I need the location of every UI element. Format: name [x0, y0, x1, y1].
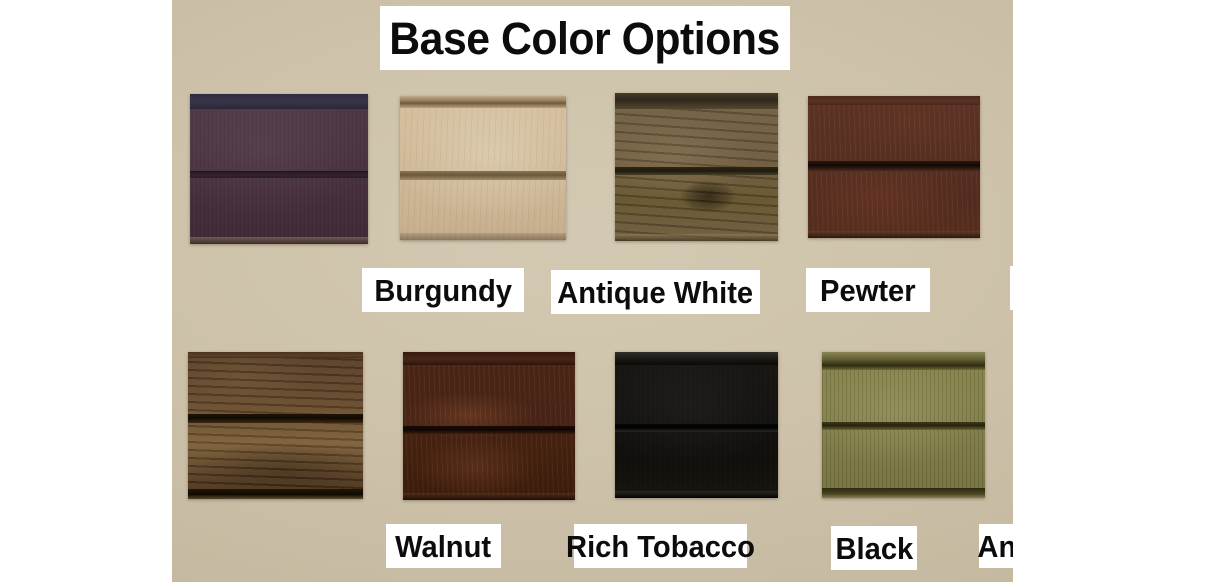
swatch-top-rail: [615, 93, 778, 109]
swatch-groove: [615, 424, 778, 432]
color-swatch-rich-tobacco[interactable]: [403, 352, 575, 500]
swatch-top-rail: [188, 352, 363, 358]
sample-board-background: Base Color Options: [172, 0, 1013, 582]
swatch-bottom-edge: [808, 231, 980, 238]
swatch-groove: [808, 161, 980, 171]
swatch-bottom-edge: [615, 234, 778, 241]
swatch-label-antique-green: Antique Green: [979, 524, 1013, 568]
swatch-label-text: Antique Green: [978, 531, 1013, 562]
swatch-bottom-edge: [188, 489, 363, 499]
swatch-label-black: Black: [831, 526, 917, 570]
swatch-field: [400, 96, 566, 240]
page-title: Base Color Options: [380, 6, 790, 70]
swatch-top-rail: [190, 94, 368, 109]
swatch-label-text: Burgundy: [374, 275, 512, 306]
swatch-groove: [615, 167, 778, 175]
swatch-bottom-edge: [822, 488, 985, 498]
page-title-text: Base Color Options: [390, 16, 781, 61]
color-swatch-cherry[interactable]: [808, 96, 980, 238]
swatch-top-rail: [822, 352, 985, 370]
swatch-label-text: Black: [835, 533, 913, 564]
color-swatch-pewter[interactable]: [615, 93, 778, 241]
swatch-label-rich-tobacco: Rich Tobacco: [574, 524, 747, 568]
swatch-label-text: Antique White: [558, 277, 754, 308]
swatch-label-pewter: Pewter: [806, 268, 930, 312]
swatch-groove: [822, 422, 985, 430]
swatch-label-text: Pewter: [820, 275, 916, 306]
swatch-bottom-edge: [400, 233, 566, 240]
swatch-groove: [188, 414, 363, 423]
color-chart-image: Base Color Options: [0, 0, 1214, 582]
color-swatch-antique-white[interactable]: [400, 96, 566, 240]
color-swatch-black[interactable]: [615, 352, 778, 498]
swatch-groove: [403, 426, 575, 434]
swatch-label-burgundy: Burgundy: [362, 268, 524, 312]
swatch-field: [190, 94, 368, 244]
swatch-bottom-edge: [403, 493, 575, 500]
swatch-groove: [190, 171, 368, 178]
swatch-top-rail: [615, 352, 778, 365]
swatch-top-rail: [403, 352, 575, 365]
color-swatch-antique-green[interactable]: [822, 352, 985, 498]
color-swatch-burgundy[interactable]: [190, 94, 368, 244]
swatch-label-antique-white: Antique White: [551, 270, 760, 314]
swatch-label-text: Walnut: [395, 531, 491, 562]
swatch-label-walnut: Walnut: [386, 524, 501, 568]
swatch-groove: [400, 171, 566, 180]
swatch-field: [188, 352, 363, 499]
color-swatch-walnut[interactable]: [188, 352, 363, 499]
swatch-bottom-edge: [615, 491, 778, 498]
swatch-top-rail: [400, 96, 566, 108]
swatch-label-text: Rich Tobacco: [566, 531, 755, 562]
swatch-label-cherry: Cherry: [1010, 266, 1013, 310]
swatch-bottom-edge: [190, 237, 368, 245]
swatch-top-rail: [808, 96, 980, 105]
